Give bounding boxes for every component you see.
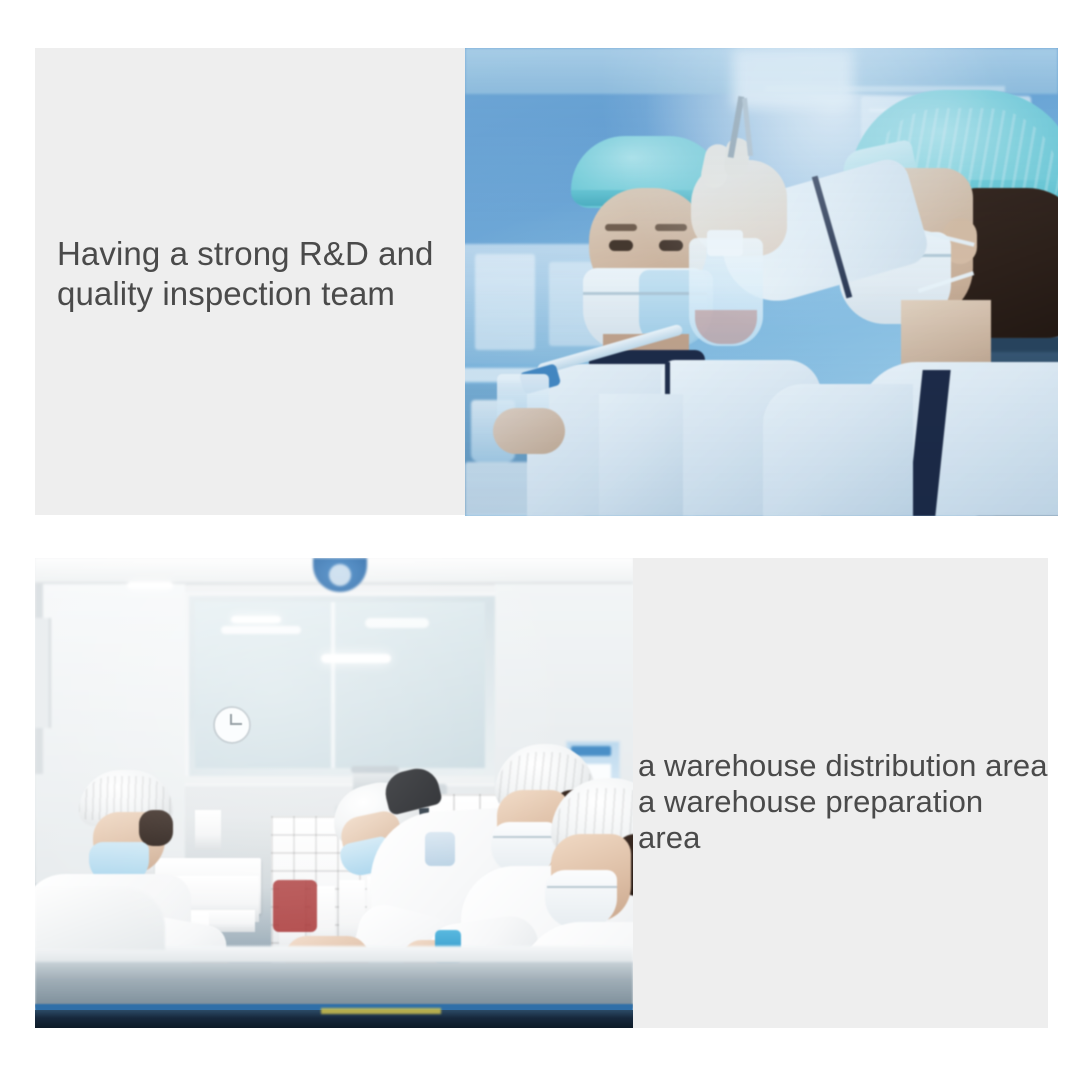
lab-photo-bluetint bbox=[465, 48, 1058, 516]
warehouse-photo-shading bbox=[35, 558, 633, 1028]
bottom-caption-text: a warehouse distribution area a warehous… bbox=[638, 748, 1048, 856]
bottom-section: a warehouse distribution area a warehous… bbox=[35, 558, 1048, 1028]
top-caption-panel: Having a strong R&D and quality inspecti… bbox=[35, 48, 465, 515]
bottom-caption-panel: a warehouse distribution area a warehous… bbox=[633, 558, 1048, 1028]
top-caption-text: Having a strong R&D and quality inspecti… bbox=[57, 234, 457, 314]
top-photo-lab-inspection bbox=[465, 48, 1058, 516]
top-section: Having a strong R&D and quality inspecti… bbox=[35, 48, 1058, 516]
bottom-photo-warehouse-packing bbox=[35, 558, 633, 1028]
